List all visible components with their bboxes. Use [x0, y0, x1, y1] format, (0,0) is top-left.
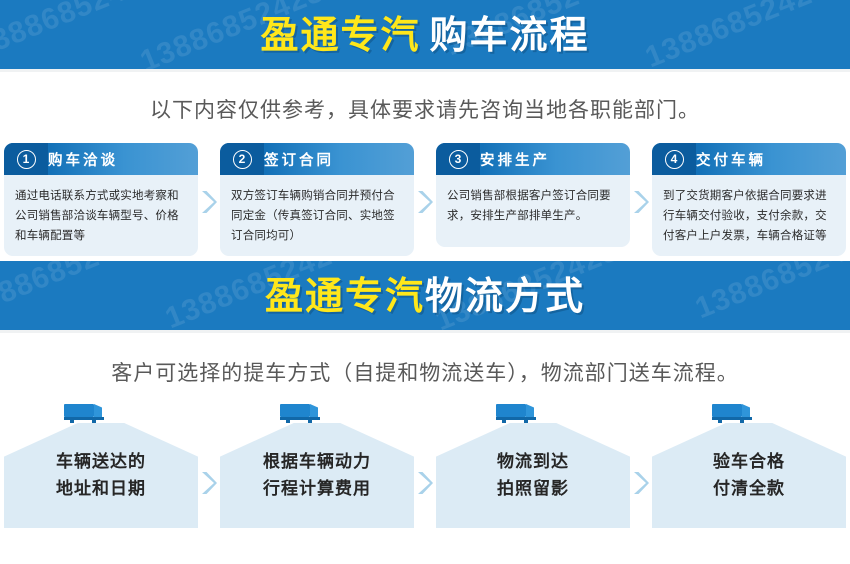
chevron-separator-3	[630, 143, 652, 261]
chevron-separator-5	[414, 398, 436, 528]
banner-heading: 购车流程	[430, 15, 590, 57]
chevron-right-icon	[632, 189, 650, 215]
step-title-2: 签订合同	[264, 149, 334, 170]
step-title-1: 购车洽谈	[48, 149, 118, 170]
watermark-text: 13886852428	[0, 261, 154, 324]
step-number-3: 3	[449, 150, 468, 169]
subtitle-logistics: 客户可选择的提车方式（自提和物流送车），物流部门送车流程。	[0, 363, 850, 384]
logistics-line1-4: 验车合格	[713, 449, 785, 475]
banner-title: 盈通专汽购车流程	[260, 17, 589, 55]
truck-icon	[494, 401, 542, 425]
logistics-label-4: 验车合格 付清全款	[652, 423, 846, 528]
step-card-4[interactable]: 4 交付车辆 到了交货期客户依据合同要求进行车辆交付验收，支付余款，交付客户上户…	[652, 143, 846, 256]
logistics-label-1: 车辆送达的 地址和日期	[4, 423, 198, 528]
step-body-2: 双方签订车辆购销合同并预付合同定金（传真签订合同、实地签订合同均可）	[220, 175, 414, 256]
chevron-separator-6	[630, 398, 652, 528]
step-number-1: 1	[17, 150, 36, 169]
step-text-4: 到了交货期客户依据合同要求进行车辆交付验收，支付余款，交付客户上户发票，车辆合格…	[663, 186, 836, 246]
watermark-text: 13886852428	[0, 0, 164, 65]
truck-icon	[278, 401, 326, 425]
purchase-step-row: 1 购车洽谈 通过电话联系方式或实地考察和公司销售部洽谈车辆型号、价格和车辆配置…	[0, 143, 850, 261]
logistics-card-3[interactable]: 物流到达 拍照留影	[436, 398, 630, 528]
banner-brand: 盈通专汽	[265, 276, 425, 318]
step-header-4: 4 交付车辆	[652, 143, 846, 175]
banner-logistics: 13886852428 13886852428 13886852428 1388…	[0, 261, 850, 333]
step-body-3: 公司销售部根据客户签订合同要求，安排生产部排单生产。	[436, 175, 630, 247]
step-number-badge-4: 4	[652, 150, 696, 169]
logistics-line1-3: 物流到达	[497, 449, 569, 475]
step-number-2: 2	[233, 150, 252, 169]
watermark-text: 13886852428	[641, 0, 834, 72]
logistics-line2-4: 付清全款	[713, 476, 785, 502]
chevron-right-icon	[200, 470, 218, 496]
step-title-4: 交付车辆	[696, 149, 766, 170]
step-number-badge-2: 2	[220, 150, 264, 169]
step-body-1: 通过电话联系方式或实地考察和公司销售部洽谈车辆型号、价格和车辆配置等	[4, 175, 198, 256]
logistics-line2-1: 地址和日期	[56, 476, 146, 502]
step-number-badge-1: 1	[4, 150, 48, 169]
banner-purchase-process: 13886852428 13886852428 13886852428 1388…	[0, 0, 850, 72]
logistics-line2-3: 拍照留影	[497, 476, 569, 502]
step-text-1: 通过电话联系方式或实地考察和公司销售部洽谈车辆型号、价格和车辆配置等	[15, 186, 188, 246]
step-card-2[interactable]: 2 签订合同 双方签订车辆购销合同并预付合同定金（传真签订合同、实地签订合同均可…	[220, 143, 414, 256]
chevron-right-icon	[416, 470, 434, 496]
step-header-2: 2 签订合同	[220, 143, 414, 175]
logistics-card-2[interactable]: 根据车辆动力 行程计算费用	[220, 398, 414, 528]
logistics-line2-2: 行程计算费用	[263, 476, 371, 502]
chevron-separator-2	[414, 143, 436, 261]
logistics-line1-2: 根据车辆动力	[263, 449, 371, 475]
step-number-badge-3: 3	[436, 150, 480, 169]
chevron-right-icon	[632, 470, 650, 496]
step-body-4: 到了交货期客户依据合同要求进行车辆交付验收，支付余款，交付客户上户发票，车辆合格…	[652, 175, 846, 256]
step-text-3: 公司销售部根据客户签订合同要求，安排生产部排单生产。	[447, 186, 620, 226]
step-text-2: 双方签订车辆购销合同并预付合同定金（传真签订合同、实地签订合同均可）	[231, 186, 404, 246]
logistics-label-2: 根据车辆动力 行程计算费用	[220, 423, 414, 528]
logistics-label-3: 物流到达 拍照留影	[436, 423, 630, 528]
subtitle-purchase: 以下内容仅供参考，具体要求请先咨询当地各职能部门。	[0, 100, 850, 121]
step-card-3[interactable]: 3 安排生产 公司销售部根据客户签订合同要求，安排生产部排单生产。	[436, 143, 630, 247]
chevron-right-icon	[416, 189, 434, 215]
chevron-right-icon	[200, 189, 218, 215]
watermark-text: 13886852428	[691, 261, 850, 326]
banner-heading: 物流方式	[425, 276, 585, 318]
step-header-3: 3 安排生产	[436, 143, 630, 175]
truck-icon	[710, 401, 758, 425]
logistics-line1-1: 车辆送达的	[56, 449, 146, 475]
logistics-card-row: 车辆送达的 地址和日期 根据车辆动力 行程计算费用	[0, 398, 850, 528]
step-title-3: 安排生产	[480, 149, 550, 170]
chevron-separator-1	[198, 143, 220, 261]
step-number-4: 4	[665, 150, 684, 169]
chevron-separator-4	[198, 398, 220, 528]
banner-title: 盈通专汽物流方式	[265, 278, 585, 316]
banner-brand: 盈通专汽	[260, 15, 420, 57]
step-card-1[interactable]: 1 购车洽谈 通过电话联系方式或实地考察和公司销售部洽谈车辆型号、价格和车辆配置…	[4, 143, 198, 256]
logistics-card-1[interactable]: 车辆送达的 地址和日期	[4, 398, 198, 528]
step-header-1: 1 购车洽谈	[4, 143, 198, 175]
truck-icon	[62, 401, 110, 425]
logistics-card-4[interactable]: 验车合格 付清全款	[652, 398, 846, 528]
